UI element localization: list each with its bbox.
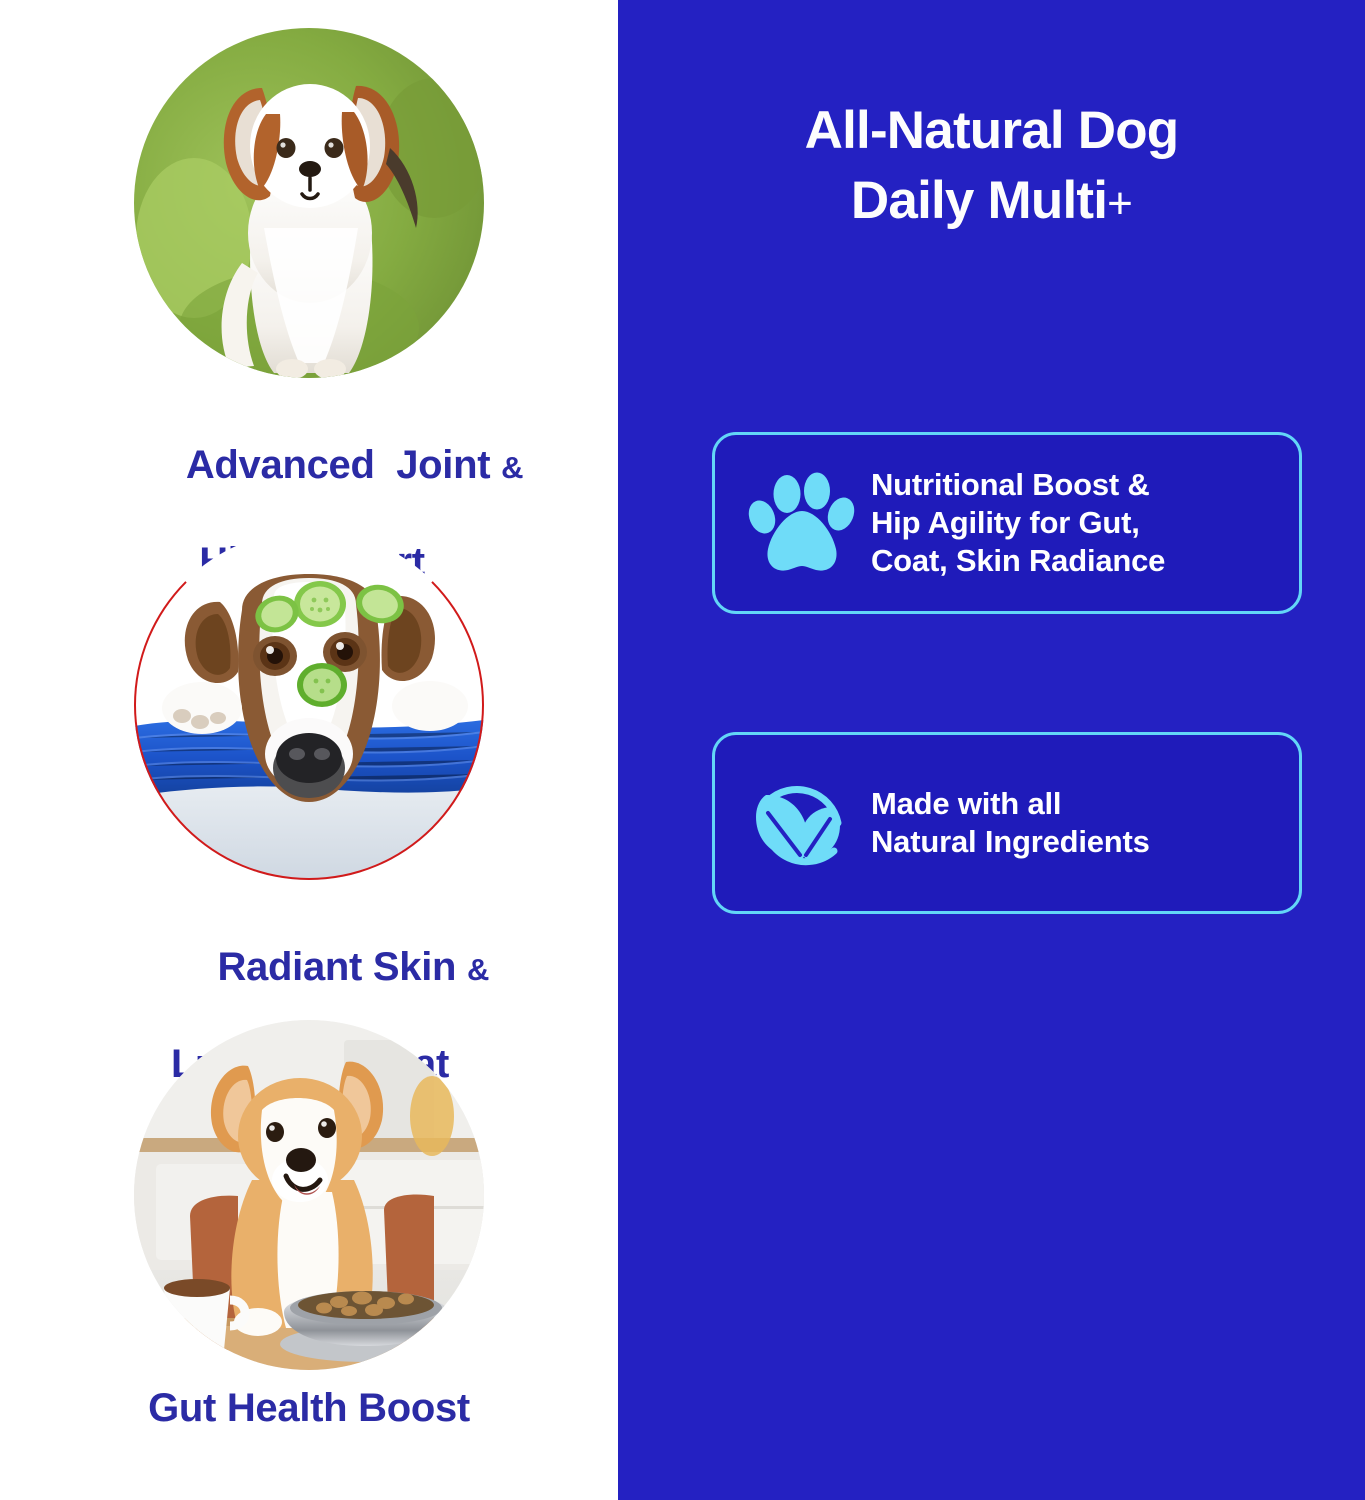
feature-caption-1-line-1: Advanced Joint & <box>6 392 618 538</box>
caption-text: Advanced Joint <box>186 443 501 487</box>
feature-block-joint-hip: Advanced Joint & Hip Support <box>0 28 618 587</box>
feature-block-gut-health: Gut Health Boost <box>0 1020 618 1433</box>
feature-block-skin-coat: Radiant Skin & Lustrous Coat <box>0 530 618 1089</box>
feature-card-2-text: Made with all Natural Ingredients <box>871 785 1150 861</box>
feature-card-natural-ingredients: Made with all Natural Ingredients <box>712 732 1302 914</box>
brand-lockup: Healthy Animals 4EVER <box>1236 1012 1365 1280</box>
card-2-line-1: Made with all <box>871 785 1150 823</box>
caption-ampersand: & <box>467 952 489 987</box>
left-feature-column: Advanced Joint & Hip Support <box>0 0 618 1500</box>
headline-line-1: All-Natural Dog <box>618 96 1365 166</box>
caption-text: Radiant Skin <box>217 945 466 989</box>
headline-text: Daily Multi <box>851 171 1107 230</box>
feature-caption-3-line-1: Gut Health Boost <box>0 1384 618 1433</box>
brand-line-animals: Animals <box>1236 1103 1365 1194</box>
feature-card-1-text: Nutritional Boost & Hip Agility for Gut,… <box>871 466 1165 580</box>
leaf-natural-icon <box>741 762 863 884</box>
plus-symbol: + <box>1107 179 1132 228</box>
jack-russell-spa-cucumber-photo <box>134 530 484 880</box>
papillon-dog-outdoors-photo <box>134 28 484 378</box>
card-1-line-3: Coat, Skin Radiance <box>871 542 1165 580</box>
card-1-line-2: Hip Agility for Gut, <box>871 504 1165 542</box>
card-1-line-1: Nutritional Boost & <box>871 466 1165 504</box>
feature-card-nutritional-boost: Nutritional Boost & Hip Agility for Gut,… <box>712 432 1302 614</box>
feature-image-wrap-1 <box>134 28 484 378</box>
headline-line-2: Daily Multi+ <box>618 166 1365 236</box>
caption-ampersand: & <box>501 450 523 485</box>
feature-caption-2-line-1: Radiant Skin & <box>2 894 618 1040</box>
page-title: All-Natural Dog Daily Multi+ <box>618 96 1365 236</box>
feature-image-wrap-2 <box>134 530 484 880</box>
feature-image-wrap-3 <box>134 1020 484 1370</box>
card-2-line-2: Natural Ingredients <box>871 823 1150 861</box>
paw-print-icon <box>741 462 863 584</box>
feature-caption-3: Gut Health Boost <box>0 1384 618 1433</box>
corgi-with-food-bowl-photo <box>134 1020 484 1370</box>
brand-line-healthy: Healthy <box>1236 1012 1365 1103</box>
brand-line-4ever: 4EVER <box>1236 1195 1365 1279</box>
